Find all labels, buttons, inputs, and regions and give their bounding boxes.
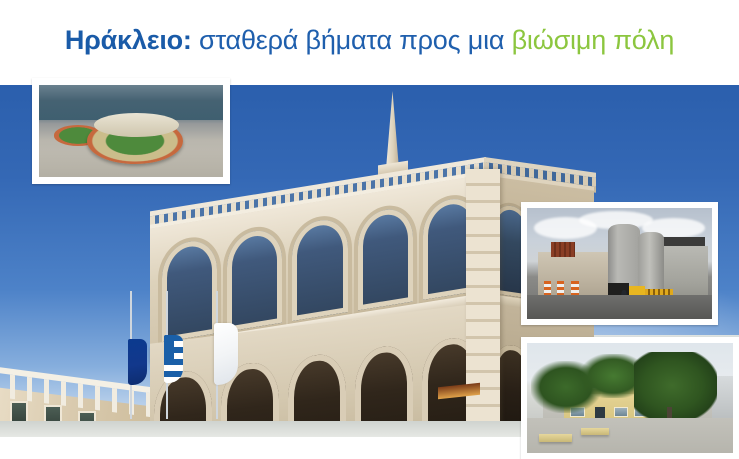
title-bar: Ηράκλειο: σταθερά βήματα προς μια βιώσιμ… [0,0,739,82]
greek-flag-canton [164,335,174,359]
concrete-bench [581,428,610,436]
slide-root: Ηράκλειο: σταθερά βήματα προς μια βιώσιμ… [0,0,739,459]
flagpoles-group [118,291,248,437]
inset-stadium-aerial-photo [32,78,230,184]
arched-window [292,216,347,321]
traffic-bollard [557,281,564,294]
arched-window [358,206,413,311]
school-photo-content [527,343,733,453]
title-middle-part: σταθερά βήματα προς μια [192,25,512,55]
inset-school-yard-photo [521,337,739,459]
tree-large-foreground [634,352,716,422]
corner-quoin-pier [466,169,500,437]
school-window [614,407,628,417]
concrete-bench [539,434,572,442]
eu-flag [128,339,147,385]
stone-obelisk-pinnacle [386,91,399,169]
stadium-roof-canopy [94,113,179,137]
title-bold-part: Ηράκλειο: [65,25,192,55]
brick-parapet [551,242,575,256]
title-green-part: βιώσιμη πόλη [512,25,675,55]
traffic-bollard [544,281,551,294]
white-flag [214,323,238,385]
traffic-bollard [571,281,578,294]
inset-modern-building-photo [521,202,718,325]
modern-building-photo-content [527,208,712,319]
stadium-photo-content [39,85,223,177]
street-asphalt [527,295,712,319]
page-title: Ηράκλειο: σταθερά βήματα προς μια βιώσιμ… [65,26,674,56]
